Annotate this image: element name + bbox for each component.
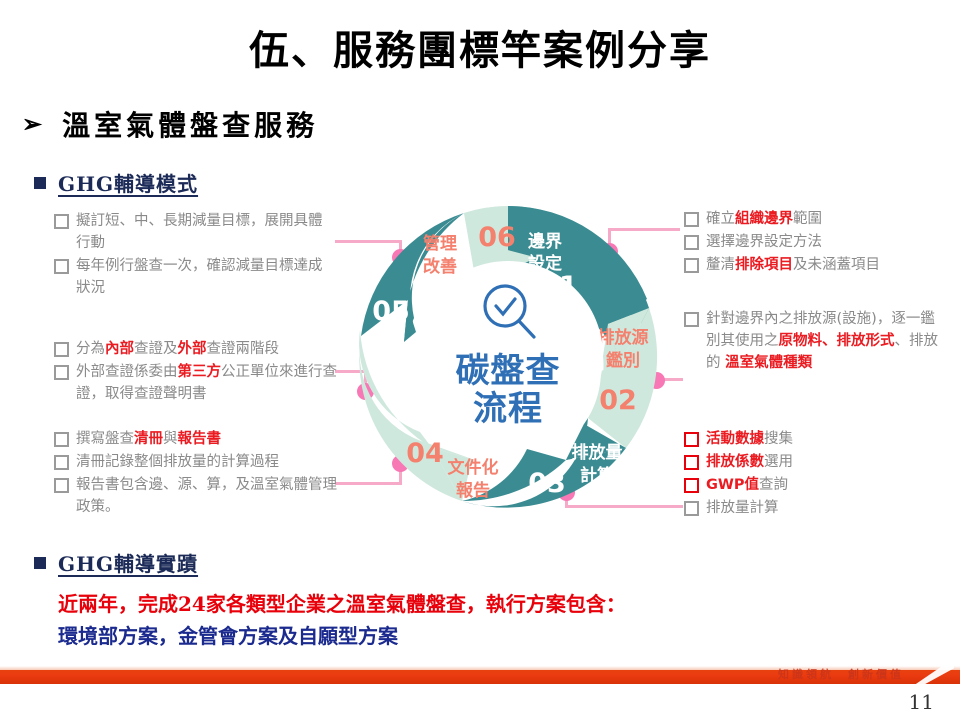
note-item-text: 選擇邊界設定方法 bbox=[706, 231, 954, 253]
wheel-label-04-l2: 報告 bbox=[456, 480, 490, 501]
statement-line-2: 環境部方案，金管會方案及自願型方案 bbox=[58, 620, 626, 652]
wheel-num-03: 03 bbox=[528, 468, 566, 499]
checkbox-icon bbox=[684, 501, 699, 516]
note-emphasis: 溫室氣體種類 bbox=[725, 355, 812, 371]
note-plain: 搜集 bbox=[764, 431, 793, 447]
note-plain: 選用 bbox=[764, 454, 793, 470]
note-emphasis: 報告書 bbox=[178, 431, 222, 447]
note-item-text: 擬訂短、中、長期減量目標，展開具體行動 bbox=[76, 210, 329, 254]
wheel-label-06-l1: 管理 bbox=[423, 233, 457, 254]
ghg-result-statement: 近兩年，完成24家各類型企業之溫室氣體盤查，執行方案包含： 環境部方案，金管會方… bbox=[58, 588, 626, 653]
note-item-text: GWP值查詢 bbox=[706, 474, 944, 496]
note-plain: 及未涵蓋項目 bbox=[793, 257, 880, 273]
note-emphasis: 排除項目 bbox=[735, 257, 793, 273]
note-item-text: 活動數據搜集 bbox=[706, 428, 944, 450]
note-block-04: 撰寫盤查清冊與報告書清冊記錄整個排放量的計算過程報告書包含邊、源、算，及溫室氣體… bbox=[54, 428, 339, 519]
square-bullet-icon bbox=[34, 177, 46, 189]
note-item: 確立組織邊界範圍 bbox=[684, 208, 954, 230]
note-item: 每年例行盤查一次，確認減量目標達成狀況 bbox=[54, 255, 329, 299]
page-number: 11 bbox=[0, 690, 934, 714]
note-plain: 確立 bbox=[706, 211, 735, 227]
checkbox-icon bbox=[54, 214, 69, 229]
note-plain: 外部查證係委由 bbox=[76, 364, 178, 380]
checkbox-icon bbox=[54, 365, 69, 380]
note-plain: 查證及 bbox=[134, 341, 178, 357]
note-emphasis: 外部 bbox=[178, 341, 207, 357]
note-item: GWP值查詢 bbox=[684, 474, 944, 496]
note-emphasis: 排放係數 bbox=[706, 454, 764, 470]
note-plain: 每年例行盤查一次，確認減量目標達成狀況 bbox=[76, 258, 323, 296]
note-item: 釐清排除項目及未涵蓋項目 bbox=[684, 254, 954, 276]
checkbox-icon bbox=[684, 258, 699, 273]
note-item-text: 針對邊界內之排放源(設施)，逐一鑑別其使用之原物料、排放形式、排放的 溫室氣體種… bbox=[706, 308, 942, 374]
note-block-01: 確立組織邊界範圍選擇邊界設定方法釐清排除項目及未涵蓋項目 bbox=[684, 208, 954, 277]
wheel-num-04: 04 bbox=[406, 438, 444, 469]
wheel-label-01-l1: 邊界 bbox=[528, 231, 562, 252]
wheel-center-line1: 碳盤查 bbox=[352, 352, 664, 390]
wheel-label-02-l1: 排放源 bbox=[598, 327, 649, 348]
note-item-text: 撰寫盤查清冊與報告書 bbox=[76, 428, 339, 450]
checkbox-icon bbox=[54, 478, 69, 493]
arrow-bullet-icon: ➢ bbox=[22, 112, 46, 136]
note-block-02: 針對邊界內之排放源(設施)，逐一鑑別其使用之原物料、排放形式、排放的 溫室氣體種… bbox=[684, 308, 942, 375]
wheel-label-06-l2: 改善 bbox=[423, 256, 457, 277]
note-item: 分為內部查證及外部查證兩階段 bbox=[54, 338, 339, 360]
slide-canvas: 伍、服務團標竿案例分享 ➢ 溫室氣體盤查服務 GHG輔導模式 GHG輔導實蹟 bbox=[0, 0, 960, 720]
note-plain: 查詢 bbox=[759, 477, 788, 493]
note-item: 選擇邊界設定方法 bbox=[684, 231, 954, 253]
note-item-text: 排放量計算 bbox=[706, 497, 944, 519]
wheel-label-03-l2: 計算 bbox=[580, 465, 614, 486]
footer-logo: 知識領航 創新價值 bbox=[770, 664, 960, 686]
square-bullet-icon bbox=[34, 557, 46, 569]
note-plain: 選擇邊界設定方法 bbox=[706, 234, 822, 250]
note-plain: 釐清 bbox=[706, 257, 735, 273]
footer-swoosh-icon bbox=[910, 664, 954, 686]
checkbox-icon bbox=[54, 455, 69, 470]
section-heading-label: 溫室氣體盤查服務 bbox=[62, 104, 318, 144]
checkbox-icon bbox=[684, 212, 699, 227]
note-block-05: 分為內部查證及外部查證兩階段外部查證係委由第三方公正單位來進行查證，取得查證聲明… bbox=[54, 338, 339, 406]
wheel-center-title: 碳盤查 流程 bbox=[352, 352, 664, 428]
note-plain: 排放量計算 bbox=[706, 500, 779, 516]
note-item-text: 釐清排除項目及未涵蓋項目 bbox=[706, 254, 954, 276]
note-item-text: 清冊記錄整個排放量的計算過程 bbox=[76, 451, 339, 473]
note-item-text: 分為內部查證及外部查證兩階段 bbox=[76, 338, 339, 360]
note-item: 排放係數選用 bbox=[684, 451, 944, 473]
wheel-label-03-l1: 排放量 bbox=[572, 442, 623, 463]
connector-line-02 bbox=[663, 378, 683, 381]
checkbox-icon bbox=[54, 342, 69, 357]
footer-logo-text: 知識領航 創新價值 bbox=[778, 666, 904, 682]
wheel-label-04-l1: 文件化 bbox=[448, 457, 499, 478]
note-plain: 報告書包含邊、源、算，及溫室氣體管理政策。 bbox=[76, 477, 337, 515]
heading-ghg-mode-label: GHG輔導模式 bbox=[58, 168, 198, 197]
note-item: 活動數據搜集 bbox=[684, 428, 944, 450]
checkbox-icon bbox=[684, 478, 699, 493]
checkbox-icon bbox=[684, 455, 699, 470]
wheel-center-line2: 流程 bbox=[352, 390, 664, 428]
note-emphasis: 原物料、排放形式 bbox=[779, 333, 895, 349]
note-plain: 分為 bbox=[76, 341, 105, 357]
note-emphasis: 組織邊界 bbox=[735, 211, 793, 227]
wheel-num-05: 05 bbox=[372, 296, 410, 327]
note-plain: 撰寫盤查 bbox=[76, 431, 134, 447]
note-item: 外部查證係委由第三方公正單位來進行查證，取得查證聲明書 bbox=[54, 361, 339, 405]
note-block-03: 活動數據搜集排放係數選用GWP值查詢排放量計算 bbox=[684, 428, 944, 520]
note-item-text: 每年例行盤查一次，確認減量目標達成狀況 bbox=[76, 255, 329, 299]
note-item-text: 確立組織邊界範圍 bbox=[706, 208, 954, 230]
note-item: 撰寫盤查清冊與報告書 bbox=[54, 428, 339, 450]
note-item: 針對邊界內之排放源(設施)，逐一鑑別其使用之原物料、排放形式、排放的 溫室氣體種… bbox=[684, 308, 942, 374]
note-item: 擬訂短、中、長期減量目標，展開具體行動 bbox=[54, 210, 329, 254]
note-item-text: 外部查證係委由第三方公正單位來進行查證，取得查證聲明書 bbox=[76, 361, 339, 405]
note-item: 排放量計算 bbox=[684, 497, 944, 519]
checkbox-icon bbox=[54, 259, 69, 274]
statement-line-1: 近兩年，完成24家各類型企業之溫室氣體盤查，執行方案包含： bbox=[58, 588, 626, 620]
note-plain: 清冊記錄整個排放量的計算過程 bbox=[76, 454, 279, 470]
checkbox-icon bbox=[684, 312, 699, 327]
checkbox-icon bbox=[684, 432, 699, 447]
note-emphasis: 內部 bbox=[105, 341, 134, 357]
note-emphasis: 清冊 bbox=[134, 431, 163, 447]
note-item: 清冊記錄整個排放量的計算過程 bbox=[54, 451, 339, 473]
note-emphasis: 活動數據 bbox=[706, 431, 764, 447]
checkbox-icon bbox=[54, 432, 69, 447]
note-plain: 擬訂短、中、長期減量目標，展開具體行動 bbox=[76, 213, 323, 251]
heading-ghg-result-label: GHG輔導實蹟 bbox=[58, 548, 198, 577]
page-title: 伍、服務團標竿案例分享 bbox=[0, 18, 960, 76]
section-heading: ➢ 溫室氣體盤查服務 bbox=[22, 104, 318, 144]
note-item-text: 排放係數選用 bbox=[706, 451, 944, 473]
note-emphasis: 第三方 bbox=[178, 364, 222, 380]
note-plain: 查證兩階段 bbox=[207, 341, 280, 357]
checkbox-icon bbox=[684, 235, 699, 250]
heading-ghg-result: GHG輔導實蹟 bbox=[34, 548, 198, 577]
wheel-num-06: 06 bbox=[478, 222, 516, 253]
heading-ghg-mode: GHG輔導模式 bbox=[34, 168, 198, 197]
note-item-text: 報告書包含邊、源、算，及溫室氣體管理政策。 bbox=[76, 474, 339, 518]
note-plain: 與 bbox=[163, 431, 178, 447]
note-emphasis: GWP值 bbox=[706, 477, 759, 493]
note-plain: 範圍 bbox=[793, 211, 822, 227]
note-item: 報告書包含邊、源、算，及溫室氣體管理政策。 bbox=[54, 474, 339, 518]
note-block-06: 擬訂短、中、長期減量目標，展開具體行動每年例行盤查一次，確認減量目標達成狀況 bbox=[54, 210, 329, 300]
